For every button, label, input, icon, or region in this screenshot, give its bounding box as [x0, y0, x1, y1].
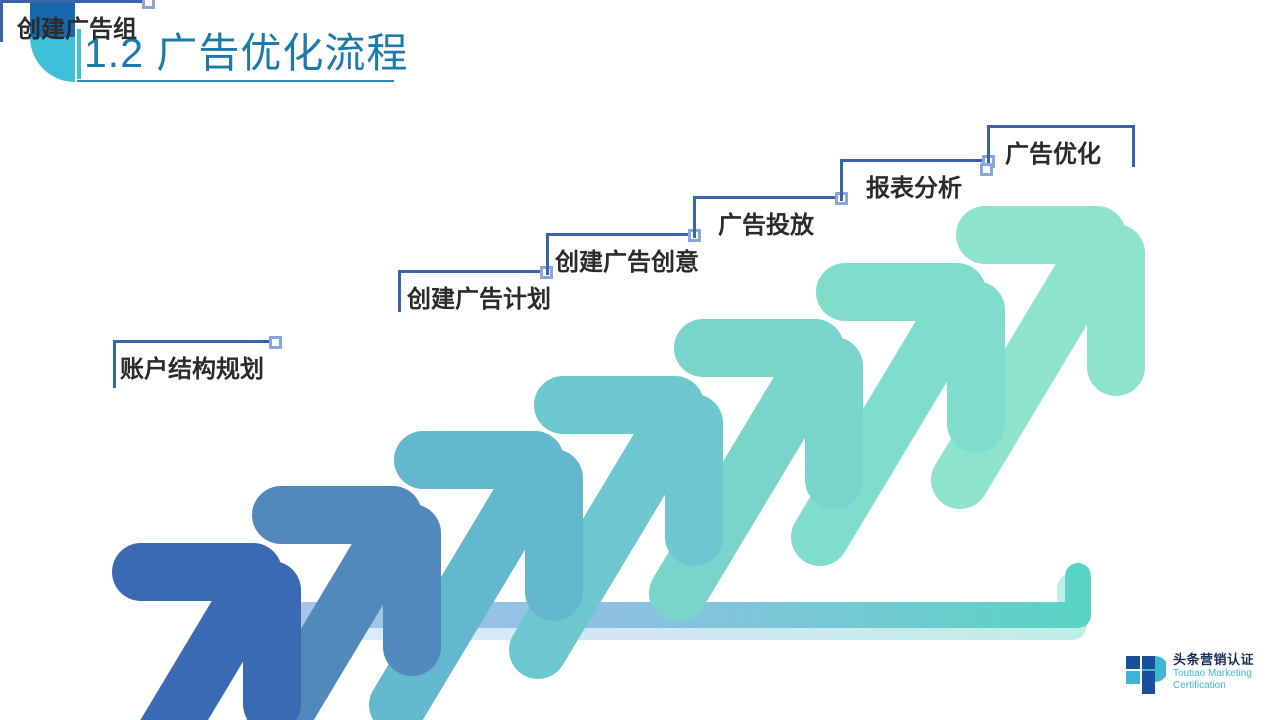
step-bracket-top — [987, 125, 1135, 128]
flow-step-1-label: 账户结构规划 — [120, 355, 264, 385]
step-bracket-top — [398, 270, 546, 273]
step-bracket-left — [546, 233, 549, 275]
step-bracket-top — [546, 233, 694, 236]
logo-english-line1: Toutiao Marketing — [1173, 668, 1254, 680]
logo-english-line2: Certification — [1173, 680, 1254, 692]
logo-wordmark: 头条营销认证 Toutiao Marketing Certification — [1173, 652, 1254, 692]
logo-chinese-name: 头条营销认证 — [1173, 652, 1254, 668]
step-bracket-top — [113, 340, 275, 343]
step-node-marker — [980, 163, 993, 176]
slide-canvas: 1.2 广告优化流程 — [0, 0, 1280, 720]
step-bracket-top — [840, 159, 988, 162]
step-bracket-top — [693, 196, 841, 199]
flow-step-5-label: 广告投放 — [718, 211, 814, 241]
step-node-marker — [269, 336, 282, 349]
step-bracket-left — [693, 196, 696, 238]
toutiao-logo-mark — [1126, 654, 1166, 694]
step-bracket-left — [113, 340, 116, 388]
flow-step-6-label: 报表分析 — [866, 174, 962, 204]
step-bracket-left — [398, 270, 401, 312]
step-bracket-top — [0, 0, 148, 3]
step-bracket-left — [987, 125, 990, 167]
flow-step-4-label: 创建广告创意 — [555, 248, 699, 278]
flow-step-7-label: 广告优化 — [1005, 140, 1101, 170]
step-node-marker — [142, 0, 155, 9]
arrow-1 — [116, 572, 272, 720]
step-bracket-right — [1132, 125, 1135, 167]
flow-step-2-label: 创建广告组 — [17, 15, 137, 45]
brand-logo: 头条营销认证 Toutiao Marketing Certification — [1126, 652, 1266, 698]
step-bracket-left — [840, 159, 843, 201]
flow-step-3-label: 创建广告计划 — [407, 285, 551, 315]
step-bracket-left — [0, 0, 3, 42]
